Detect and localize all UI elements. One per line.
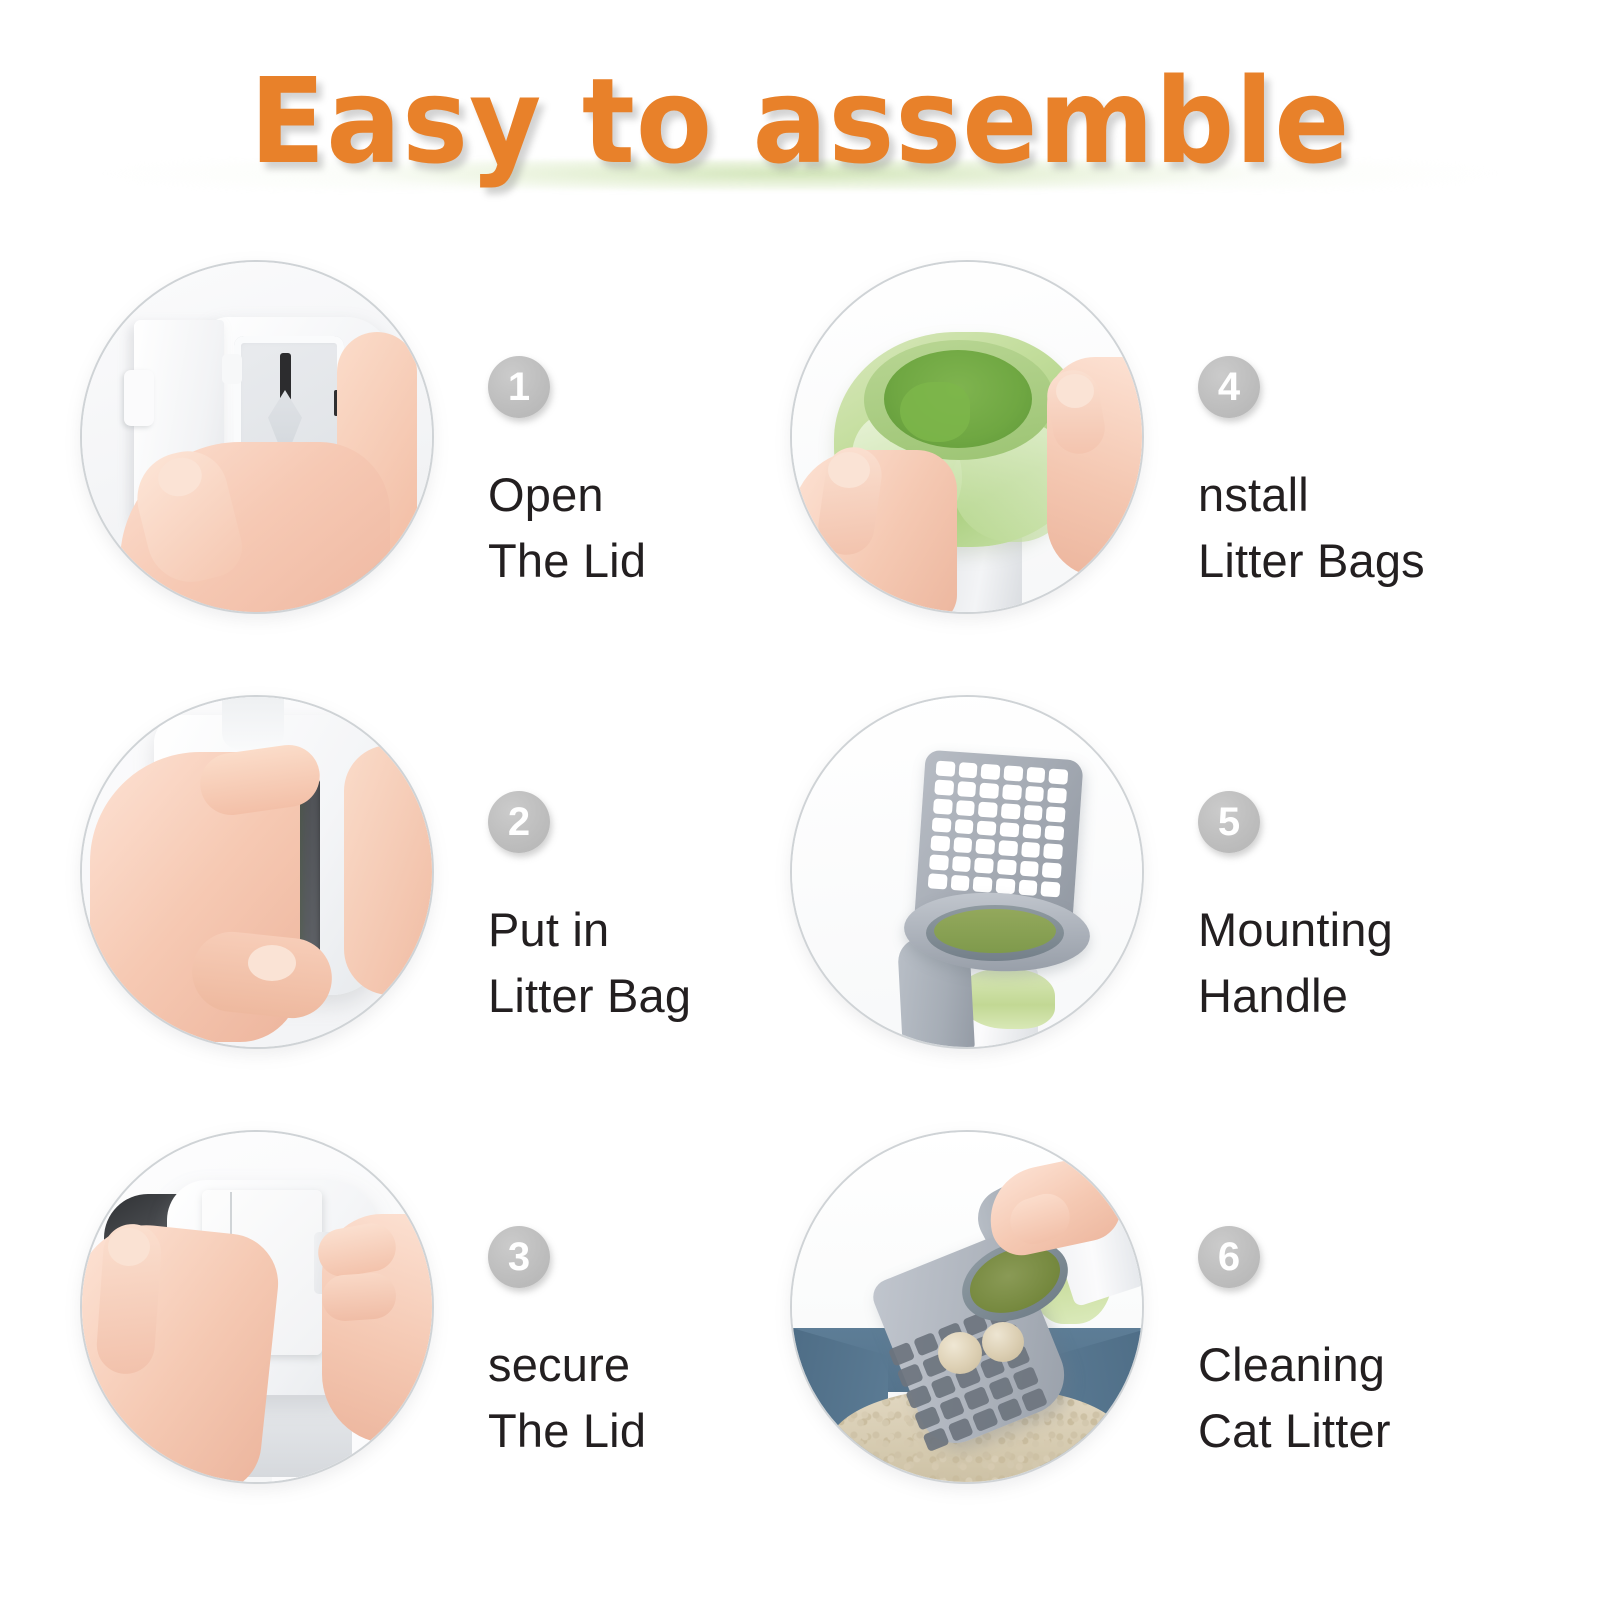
photo-install-litter-bags-illustration: [792, 262, 1142, 612]
step-label-6-line1: Cleaning: [1198, 1332, 1530, 1398]
step-label-5: Mounting Handle: [1198, 897, 1530, 1029]
page-header: Easy to assemble: [0, 0, 1600, 230]
step-item-6: 6 Cleaning Cat Litter: [790, 1130, 1530, 1550]
photo-cleaning-cat-litter-illustration: [792, 1132, 1142, 1482]
step-item-4: 4 nstall Litter Bags: [790, 260, 1530, 680]
photo-secure-the-lid-illustration: [82, 1132, 432, 1482]
step-label-1-line1: Open: [488, 462, 820, 528]
step-badge-5: 5: [1198, 791, 1260, 853]
step-photo-4: [790, 260, 1144, 614]
step-label-6: Cleaning Cat Litter: [1198, 1332, 1530, 1464]
step-item-5: 5 Mounting Handle: [790, 695, 1530, 1115]
step-caption-6: 6 Cleaning Cat Litter: [1144, 1130, 1530, 1464]
step-label-4-line2: Litter Bags: [1198, 528, 1530, 594]
step-label-1-line2: The Lid: [488, 528, 820, 594]
step-label-2-line2: Litter Bag: [488, 963, 820, 1029]
step-label-5-line1: Mounting: [1198, 897, 1530, 963]
step-photo-1: [80, 260, 434, 614]
step-item-3: 3 secure The Lid: [80, 1130, 820, 1550]
step-item-2: 2 Put in Litter Bag: [80, 695, 820, 1115]
step-label-4-line1: nstall: [1198, 462, 1530, 528]
step-label-3-line1: secure: [488, 1332, 820, 1398]
photo-put-in-litter-bag-illustration: [82, 697, 432, 1047]
step-label-2-line1: Put in: [488, 897, 820, 963]
steps-grid: 1 Open The Lid: [0, 250, 1600, 1600]
step-photo-2: [80, 695, 434, 1049]
photo-mounting-handle-illustration: [792, 697, 1142, 1047]
step-badge-6: 6: [1198, 1226, 1260, 1288]
step-caption-1: 1 Open The Lid: [434, 260, 820, 594]
step-photo-3: [80, 1130, 434, 1484]
step-caption-4: 4 nstall Litter Bags: [1144, 260, 1530, 594]
step-badge-3: 3: [488, 1226, 550, 1288]
step-photo-5: [790, 695, 1144, 1049]
step-caption-3: 3 secure The Lid: [434, 1130, 820, 1464]
step-label-3: secure The Lid: [488, 1332, 820, 1464]
step-label-4: nstall Litter Bags: [1198, 462, 1530, 594]
step-caption-2: 2 Put in Litter Bag: [434, 695, 820, 1029]
step-item-1: 1 Open The Lid: [80, 260, 820, 680]
step-label-5-line2: Handle: [1198, 963, 1530, 1029]
step-photo-6: [790, 1130, 1144, 1484]
step-label-2: Put in Litter Bag: [488, 897, 820, 1029]
scoop-perforation-grid: [928, 761, 1069, 898]
step-label-1: Open The Lid: [488, 462, 820, 594]
step-badge-2: 2: [488, 791, 550, 853]
step-label-3-line2: The Lid: [488, 1398, 820, 1464]
step-caption-5: 5 Mounting Handle: [1144, 695, 1530, 1029]
step-label-6-line2: Cat Litter: [1198, 1398, 1530, 1464]
step-badge-1: 1: [488, 356, 550, 418]
photo-open-the-lid-illustration: [82, 262, 432, 612]
step-badge-4: 4: [1198, 356, 1260, 418]
page-title: Easy to assemble: [48, 62, 1552, 180]
